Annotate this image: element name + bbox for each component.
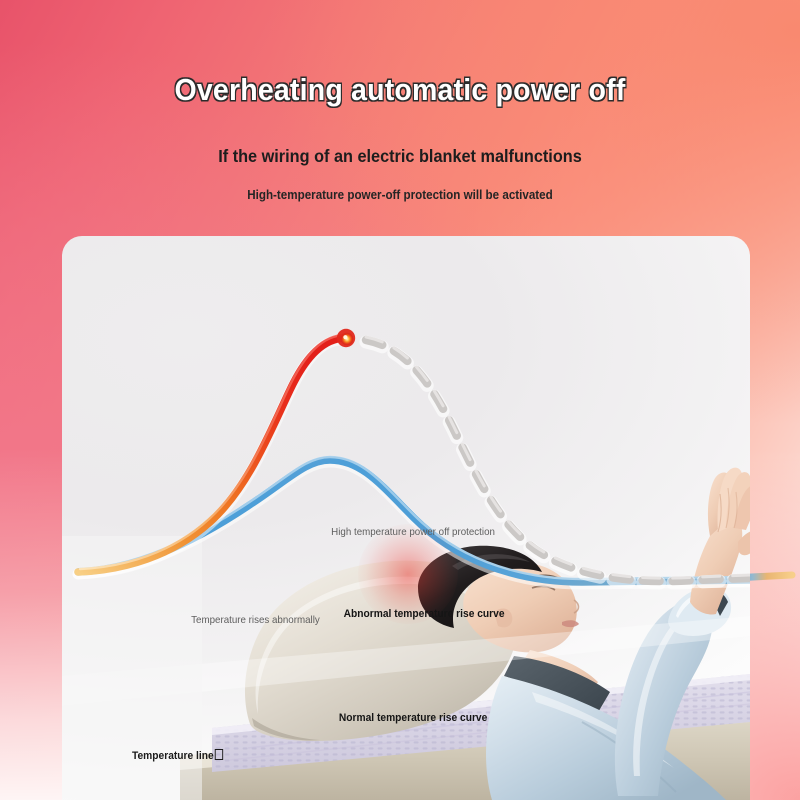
missing-glyph-box [215, 749, 223, 760]
label-temperature-line: Temperature line [132, 749, 242, 764]
power-off-marker [341, 333, 353, 345]
page-subtitle-secondary: High-temperature power-off protection wi… [28, 188, 772, 202]
label-high-temperature-power-off: High temperature power off protection [331, 526, 469, 540]
label-normal-temperature-rise-curve: Normal temperature rise curve [339, 711, 469, 726]
label-abnormal-temperature-rise-curve: Abnormal temperature rise curve [344, 607, 467, 622]
promo-graphic: Overheating automatic power off If the w… [0, 0, 800, 800]
label-temperature-line-text: Temperature line [132, 750, 214, 762]
page-title: Overheating automatic power off [32, 72, 768, 108]
abnormal-temperature-curve-shadow [78, 340, 342, 574]
page-subtitle: If the wiring of an electric blanket mal… [28, 146, 772, 167]
illustration-panel: High temperature power off protection Ab… [62, 236, 750, 800]
power-off-marker-spark [343, 335, 347, 339]
label-temperature-rises-abnormally: Temperature rises abnormally [191, 614, 301, 628]
